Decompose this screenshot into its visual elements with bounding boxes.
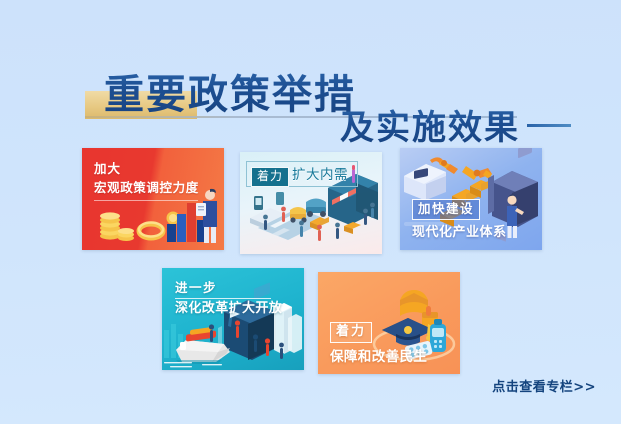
policy-card-livelihood[interactable]: 着力 保障和改善民生 (318, 272, 460, 374)
card-4-line-1: 进一步 (175, 280, 282, 296)
card-1-text: 加大 宏观政策调控力度 (94, 161, 199, 195)
poster-root: 重要政策举措 及实施效果 (0, 0, 621, 424)
card-1-line-2: 宏观政策调控力度 (94, 180, 199, 196)
card-2-text: 着力扩大内需 (251, 166, 348, 187)
card-5-line-1: 着力 (330, 322, 372, 343)
card-4-text: 进一步 深化改革扩大开放 (175, 280, 282, 317)
policy-card-expand-demand[interactable]: 着力扩大内需 (240, 152, 382, 254)
title-line-2: 及实施效果 (340, 100, 520, 149)
card-4-line-2: 深化改革扩大开放 (175, 301, 282, 317)
card-2-line-2: 扩大内需 (292, 167, 348, 184)
card-5-line-2: 保障和改善民生 (330, 349, 427, 366)
policy-card-modern-industry[interactable]: 加快建设 现代化产业体系 (400, 148, 542, 250)
card-2-line-1: 着力 (251, 167, 289, 187)
title-rule-lower (527, 124, 571, 127)
card-5-text: 着力 保障和改善民生 (330, 320, 427, 366)
card-1-line-1: 加大 (94, 161, 199, 177)
card-1-divider (94, 200, 198, 201)
card-3-line-2: 现代化产业体系 (412, 225, 507, 241)
view-column-link[interactable]: 点击查看专栏>> (492, 376, 596, 395)
policy-card-reform-opening[interactable]: 进一步 深化改革扩大开放 (162, 268, 304, 370)
card-3-text: 加快建设 现代化产业体系 (412, 198, 507, 241)
card-3-line-1: 加快建设 (412, 199, 480, 220)
title-line-1: 重要政策举措 (104, 62, 356, 120)
policy-card-macro-regulation[interactable]: 加大 宏观政策调控力度 (82, 148, 224, 250)
page-title: 重要政策举措 及实施效果 (0, 28, 621, 124)
